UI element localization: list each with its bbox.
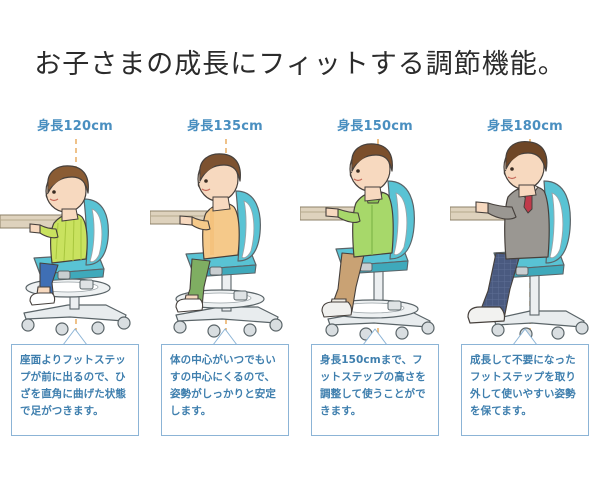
height-label-120cm: 身長120cm — [0, 115, 150, 134]
caption-text-150cm: 身長150cmまで、フットステップの高さを調整して使うことができます。 — [311, 344, 439, 436]
teen-150cm-seated — [300, 137, 450, 345]
caption-column-135cm: 体の中心がいつでもいすの中心にくるので、姿勢がしっかりと安定します。 — [150, 326, 300, 456]
callout-pointer-150 — [300, 326, 450, 346]
caption-text-120cm: 座面よりフットステップが前に出るので、ひざを直角に曲げた状態で足がつきます。 — [11, 344, 139, 436]
height-label-150cm: 身長150cm — [300, 115, 450, 134]
growth-adjustment-infographic: お子さまの成長にフィットする調節機能。 身長120cm — [0, 0, 600, 480]
child-120cm-seated — [0, 137, 150, 345]
child-135cm-seated — [150, 137, 300, 345]
figure-column-120cm: 身長120cm — [0, 115, 150, 345]
callout-pointer-135 — [150, 326, 300, 346]
height-label-135cm: 身長135cm — [150, 115, 300, 134]
caption-text-180cm: 成長して不要になったフットステップを取り外して使いやすい姿勢を保てます。 — [461, 344, 589, 436]
figure-column-150cm: 身長150cm — [300, 115, 450, 345]
figure-row: 身長120cm — [0, 115, 600, 345]
caption-column-180cm: 成長して不要になったフットステップを取り外して使いやすい姿勢を保てます。 — [450, 326, 600, 456]
callout-pointer-180 — [450, 326, 600, 346]
adult-180cm-seated — [450, 137, 600, 345]
caption-column-120cm: 座面よりフットステップが前に出るので、ひざを直角に曲げた状態で足がつきます。 — [0, 326, 150, 456]
callout-pointer-120 — [0, 326, 150, 346]
caption-text-135cm: 体の中心がいつでもいすの中心にくるので、姿勢がしっかりと安定します。 — [161, 344, 289, 436]
caption-row: 座面よりフットステップが前に出るので、ひざを直角に曲げた状態で足がつきます。 体… — [0, 326, 600, 456]
figure-column-180cm: 身長180cm — [450, 115, 600, 345]
page-title: お子さまの成長にフィットする調節機能。 — [0, 42, 600, 81]
caption-column-150cm: 身長150cmまで、フットステップの高さを調整して使うことができます。 — [300, 326, 450, 456]
height-label-180cm: 身長180cm — [450, 115, 600, 134]
figure-column-135cm: 身長135cm — [150, 115, 300, 345]
